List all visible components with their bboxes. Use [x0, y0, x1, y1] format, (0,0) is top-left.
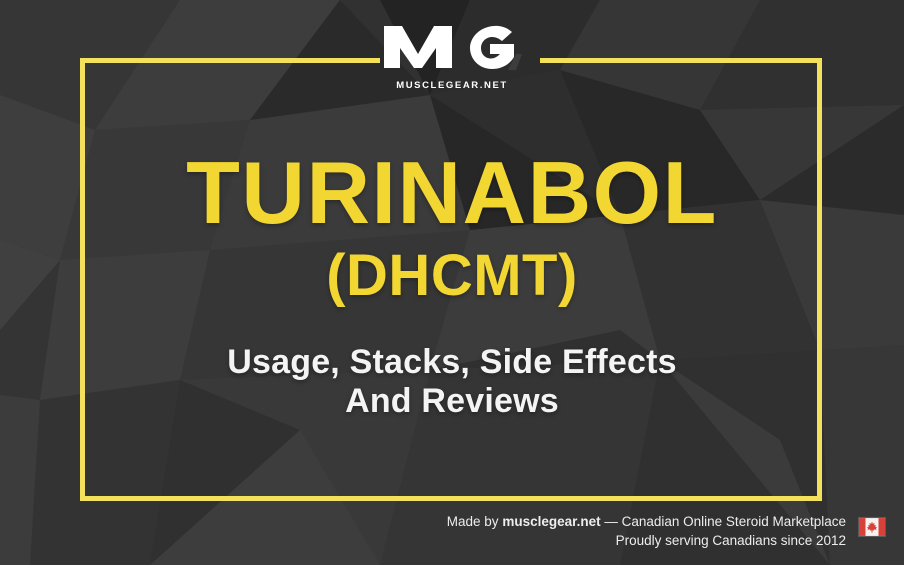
- description-block: Usage, Stacks, Side Effects And Reviews: [0, 343, 904, 422]
- footer-line-1: Made by musclegear.net — Canadian Online…: [447, 512, 846, 531]
- brand-tagline: MUSCLEGEAR.NET: [0, 81, 904, 91]
- canada-flag-icon: [858, 517, 886, 537]
- footer-credit: Made by musclegear.net — Canadian Online…: [447, 505, 846, 550]
- mg-monogram-icon: [382, 24, 522, 70]
- brand-logo: MUSCLEGEAR.NET: [0, 24, 904, 70]
- footer-line-1-suffix: — Canadian Online Steroid Marketplace: [601, 514, 846, 529]
- footer-bar: Made by musclegear.net — Canadian Online…: [0, 505, 904, 563]
- promo-banner: MUSCLEGEAR.NET TURINABOL (DHCMT) Usage, …: [0, 0, 904, 565]
- footer-line-2: Proudly serving Canadians since 2012: [447, 531, 846, 550]
- description-line-1: Usage, Stacks, Side Effects: [0, 343, 904, 382]
- page-title: TURINABOL: [0, 148, 904, 238]
- page-subtitle: (DHCMT): [0, 246, 904, 307]
- description-line-2: And Reviews: [0, 382, 904, 421]
- headline-block: TURINABOL (DHCMT) Usage, Stacks, Side Ef…: [0, 148, 904, 422]
- frame-border-bottom: [80, 496, 822, 501]
- footer-made-by-label: Made by: [447, 514, 503, 529]
- footer-brand-link[interactable]: musclegear.net: [502, 514, 600, 529]
